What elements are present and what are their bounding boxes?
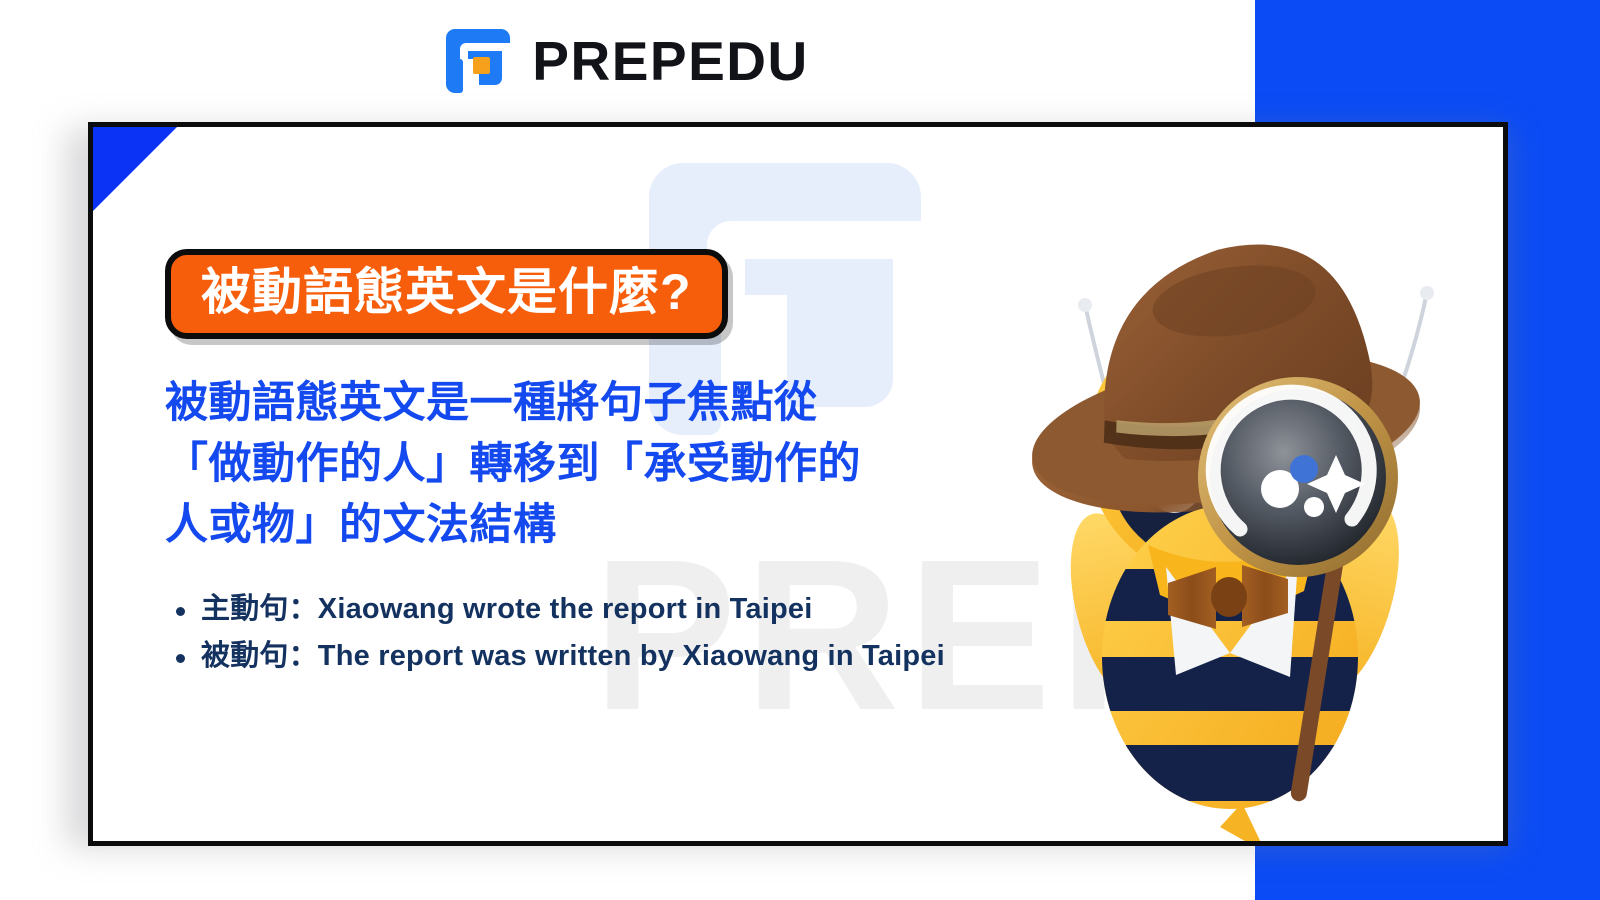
brand-wordmark: PREPEDU — [532, 34, 808, 89]
logo-orange-dot-icon — [473, 57, 490, 74]
brand-logo: PREPEDU — [446, 29, 808, 93]
detective-bee-mascot-icon — [998, 177, 1468, 846]
prepedu-p-mark-icon — [446, 29, 510, 93]
poster-canvas: PREPEDU PREP 被動語態英文是什麼? 被動語態英文是一種將句子焦點從「… — [0, 0, 1600, 900]
header: PREPEDU — [0, 0, 1255, 122]
logo-stem — [452, 59, 463, 93]
list-item: 主動句：Xiaowang wrote the report in Taipei — [165, 586, 965, 633]
title-badge: 被動語態英文是什麼? — [165, 249, 728, 339]
magnifier-icon — [1198, 377, 1398, 577]
list-item: 被動句：The report was written by Xiaowang i… — [165, 633, 965, 680]
blue-corner-triangle-icon — [93, 127, 177, 211]
lede-paragraph: 被動語態英文是一種將句子焦點從「做動作的人」轉移到「承受動作的人或物」的文法結構 — [165, 373, 865, 556]
content-card: PREP 被動語態英文是什麼? 被動語態英文是一種將句子焦點從「做動作的人」轉移… — [88, 122, 1508, 846]
card-content: 被動語態英文是什麼? 被動語態英文是一種將句子焦點從「做動作的人」轉移到「承受動… — [165, 249, 965, 680]
page-title: 被動語態英文是什麼? — [201, 264, 692, 320]
example-list: 主動句：Xiaowang wrote the report in Taipei … — [165, 586, 965, 680]
